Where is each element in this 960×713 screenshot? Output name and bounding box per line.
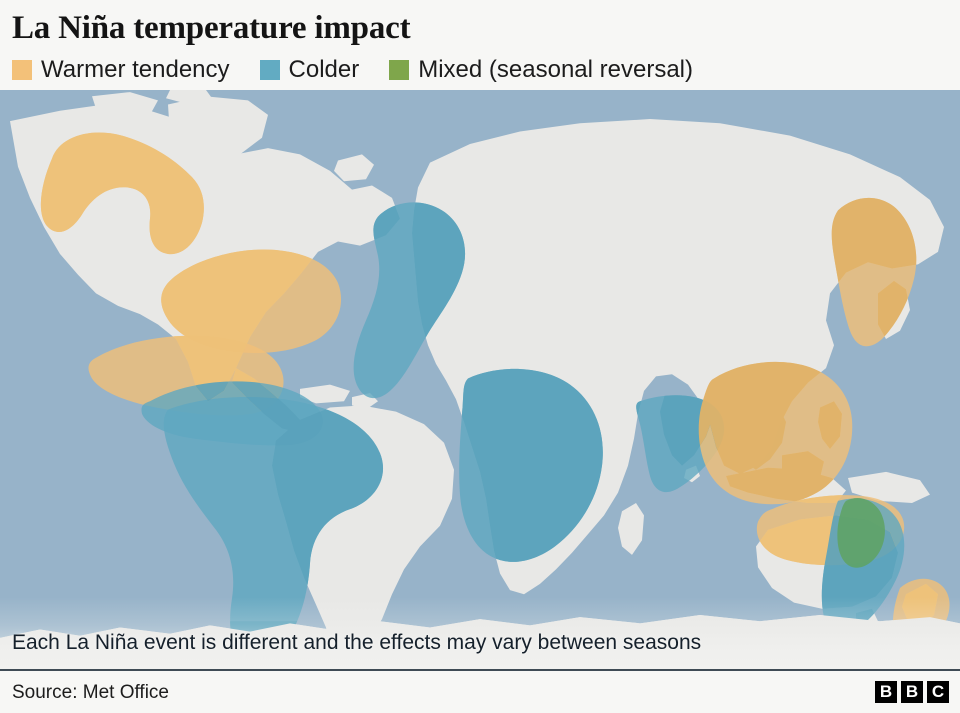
source-label: Source: Met Office (12, 683, 169, 702)
legend-item-colder: Colder (260, 58, 360, 82)
bbc-logo-letter-3: C (927, 681, 949, 703)
world-map-svg (0, 90, 960, 671)
page-title: La Niña temperature impact (12, 10, 948, 47)
legend-label-mixed: Mixed (seasonal reversal) (418, 58, 693, 82)
map-bottom-rule (0, 669, 960, 671)
map-caption: Each La Niña event is different and the … (12, 631, 701, 655)
bbc-logo-letter-2: B (901, 681, 923, 703)
legend: Warmer tendency Colder Mixed (seasonal r… (12, 58, 948, 82)
footer: Source: Met Office B B C (0, 671, 960, 713)
world-map: Each La Niña event is different and the … (0, 90, 960, 671)
infographic-card: La Niña temperature impact Warmer tenden… (0, 0, 960, 713)
bbc-logo-letter-1: B (875, 681, 897, 703)
legend-swatch-mixed (389, 60, 409, 80)
legend-swatch-warmer (12, 60, 32, 80)
legend-swatch-colder (260, 60, 280, 80)
legend-label-warmer: Warmer tendency (41, 58, 230, 82)
legend-item-warmer: Warmer tendency (12, 58, 230, 82)
legend-item-mixed: Mixed (seasonal reversal) (389, 58, 693, 82)
header: La Niña temperature impact Warmer tenden… (0, 0, 960, 90)
legend-label-colder: Colder (289, 58, 360, 82)
bbc-logo: B B C (875, 681, 949, 703)
